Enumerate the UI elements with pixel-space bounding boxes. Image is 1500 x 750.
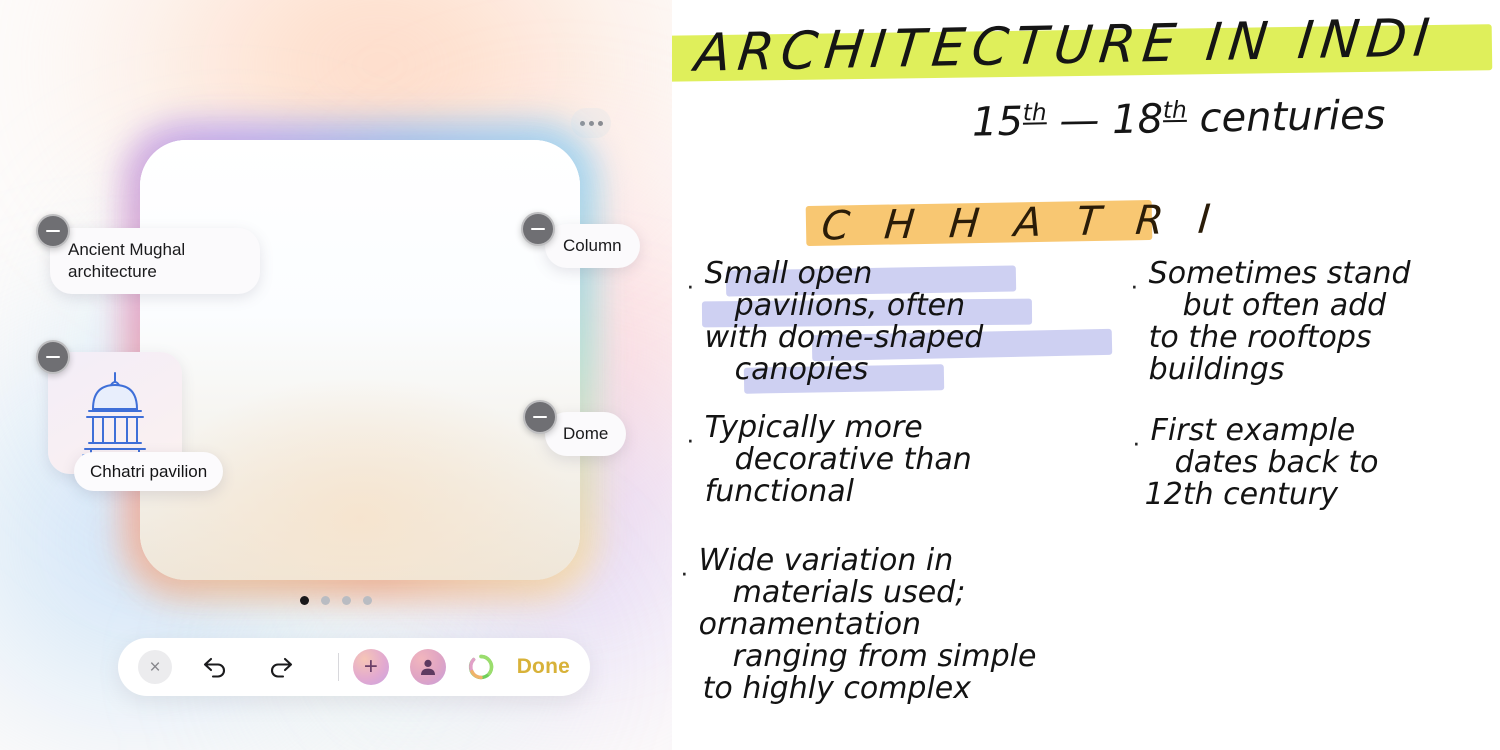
bullet-line: Small open	[705, 258, 984, 290]
style-ring-icon	[467, 653, 495, 681]
bullet-line: Typically more	[705, 412, 972, 444]
page-dot-4[interactable]	[363, 596, 372, 605]
bullet-line: to highly complex	[703, 673, 1037, 705]
dot-2	[589, 121, 594, 126]
bullet-text: Sometimes stand but often add to the roo…	[1149, 258, 1411, 386]
image-playground-toolbar: × +	[118, 638, 590, 696]
page-dot-1[interactable]	[300, 596, 309, 605]
bullet-text: First example dates back to 12th century	[1151, 415, 1379, 511]
page-dot-3[interactable]	[342, 596, 351, 605]
note-bullet-1: · Small open pavilions, often with dome-…	[686, 258, 983, 386]
pin-label[interactable]: Ancient Mughal architecture	[50, 228, 260, 294]
dot-1	[580, 121, 585, 126]
style-button[interactable]	[467, 653, 495, 681]
add-concept-button[interactable]: +	[353, 649, 389, 685]
bullet-line: First example	[1151, 415, 1379, 447]
bullet-line: ornamentation	[699, 609, 1037, 641]
bullet-line: canopies	[735, 354, 984, 386]
bullet-text: Wide variation in materials used; orname…	[699, 545, 1037, 705]
bullet-line: pavilions, often	[735, 290, 984, 322]
more-options-icon[interactable]	[571, 108, 611, 138]
chhatri-illustration	[140, 140, 580, 580]
page-indicator	[0, 596, 672, 605]
bullet-line: but often add	[1183, 290, 1411, 322]
note-subtitle: 15th — 18th centuries	[972, 92, 1386, 145]
bullet-line: ranging from simple	[733, 641, 1037, 673]
bullet-line: decorative than	[735, 444, 972, 476]
bullet-line: Wide variation in	[699, 545, 1037, 577]
pin-label[interactable]: Chhatri pavilion	[74, 452, 223, 491]
dot-3	[598, 121, 603, 126]
undo-button[interactable]	[193, 647, 237, 687]
pin-label[interactable]: Column	[545, 224, 640, 268]
subtitle-prefix: 15	[972, 99, 1024, 146]
note-bullet-4: · Sometimes stand but often add to the r…	[1130, 258, 1500, 386]
note-bullet-5: · First example dates back to 12th centu…	[1132, 415, 1378, 511]
chhatri-sketch-icon	[69, 365, 161, 461]
generated-image-card[interactable]	[140, 140, 580, 580]
bullet-marker: ·	[1132, 429, 1141, 511]
illustration-background	[140, 140, 580, 580]
bullet-marker: ·	[686, 272, 695, 386]
subtitle-sup-1: th	[1023, 99, 1047, 126]
page-dot-2[interactable]	[321, 596, 330, 605]
bullet-marker: ·	[1130, 272, 1139, 386]
app-screen: Ancient Mughal architecture	[0, 0, 1500, 750]
subtitle-mid: — 18	[1046, 96, 1163, 144]
bullet-text: Typically more decorative than functiona…	[705, 412, 972, 508]
pin-dome[interactable]: Dome	[545, 412, 626, 456]
note-bullet-3: · Wide variation in materials used; orna…	[680, 545, 1036, 705]
remove-pin-icon[interactable]	[521, 212, 555, 246]
bullet-line: 12th century	[1145, 479, 1379, 511]
bullet-line: with dome-shaped	[705, 322, 984, 354]
pin-column[interactable]: Column	[545, 224, 640, 268]
remove-pin-icon[interactable]	[36, 340, 70, 374]
bullet-marker: ·	[686, 426, 695, 508]
image-playground-panel: Ancient Mughal architecture	[0, 0, 672, 750]
bullet-line: buildings	[1149, 354, 1411, 386]
note-heading-chhatri: C H H A T R I	[820, 197, 1223, 250]
note-bullet-2: · Typically more decorative than functio…	[686, 412, 972, 508]
bullet-line: to the rooftops	[1149, 322, 1411, 354]
pin-chhatri-pavilion[interactable]: Chhatri pavilion	[48, 352, 182, 474]
pin-ancient-mughal-architecture[interactable]: Ancient Mughal architecture	[50, 228, 260, 294]
remove-pin-icon[interactable]	[36, 214, 70, 248]
subtitle-suffix: centuries	[1186, 92, 1385, 141]
remove-pin-icon[interactable]	[523, 400, 557, 434]
card-surface[interactable]	[140, 140, 580, 580]
person-icon	[418, 657, 438, 677]
bullet-line: materials used;	[733, 577, 1037, 609]
toolbar-divider	[338, 653, 339, 681]
bullet-text: Small open pavilions, often with dome-sh…	[705, 258, 984, 386]
bullet-line: dates back to	[1175, 447, 1379, 479]
handwritten-note-pane[interactable]: ARCHITECTURE IN INDI 15th — 18th centuri…	[672, 0, 1500, 750]
redo-icon	[267, 654, 295, 680]
undo-icon	[201, 654, 229, 680]
subtitle-sup-2: th	[1163, 97, 1187, 124]
redo-button[interactable]	[259, 647, 303, 687]
bullet-line: functional	[705, 476, 972, 508]
done-button[interactable]: Done	[517, 655, 570, 679]
bullet-marker: ·	[680, 559, 689, 705]
add-person-button[interactable]	[410, 649, 446, 685]
bullet-line: Sometimes stand	[1149, 258, 1411, 290]
close-button[interactable]: ×	[138, 650, 172, 684]
pin-label[interactable]: Dome	[545, 412, 626, 456]
